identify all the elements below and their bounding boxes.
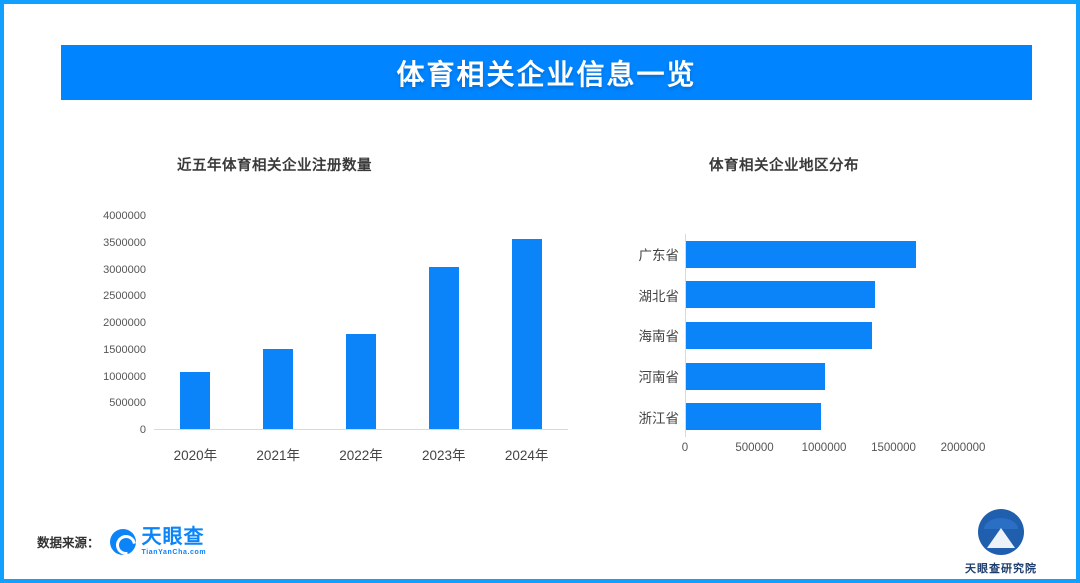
left-chart-bar-slot bbox=[320, 216, 403, 430]
right-chart-bar[interactable] bbox=[685, 241, 916, 268]
data-source: 数据来源： 天眼查 TianYanCha.com bbox=[37, 527, 206, 556]
tianyancha-wordmark: 天眼查 TianYanCha.com bbox=[142, 527, 207, 556]
right-chart-x-tick: 2000000 bbox=[941, 442, 986, 454]
left-chart-y-tick: 1000000 bbox=[103, 371, 146, 383]
tianyancha-logo: 天眼查 TianYanCha.com bbox=[110, 527, 207, 556]
right-chart-bar-row bbox=[685, 363, 963, 390]
right-chart-category-label: 海南省 bbox=[594, 322, 679, 349]
left-chart-y-tick: 3000000 bbox=[103, 264, 146, 276]
institute-logo: 天眼查研究院 bbox=[956, 509, 1046, 576]
page-title: 体育相关企业信息一览 bbox=[396, 53, 696, 93]
data-source-label: 数据来源： bbox=[37, 532, 100, 551]
right-chart-x-tick: 500000 bbox=[735, 442, 773, 454]
left-chart-bars bbox=[154, 216, 568, 430]
left-chart-x-tick: 2022年 bbox=[320, 444, 403, 464]
right-chart-bar-row bbox=[685, 281, 963, 308]
left-chart-plot-area bbox=[154, 216, 568, 430]
right-chart-category-label: 湖北省 bbox=[594, 281, 679, 308]
institute-mark-icon bbox=[978, 509, 1024, 555]
left-chart-bar[interactable] bbox=[512, 239, 542, 430]
right-chart-bar[interactable] bbox=[685, 363, 825, 390]
left-chart-x-tick: 2024年 bbox=[485, 444, 568, 464]
right-chart-bar[interactable] bbox=[685, 281, 875, 308]
right-chart-bar-row bbox=[685, 241, 963, 268]
right-chart-bar-row bbox=[685, 403, 963, 430]
right-chart-bar-row bbox=[685, 322, 963, 349]
left-chart-x-tick: 2020年 bbox=[154, 444, 237, 464]
left-chart-y-tick: 2500000 bbox=[103, 290, 146, 302]
right-chart-category-label: 河南省 bbox=[594, 363, 679, 390]
left-chart-y-axis: 0500000100000015000002000000250000030000… bbox=[76, 216, 146, 430]
left-chart-y-tick: 3500000 bbox=[103, 237, 146, 249]
right-chart-bar[interactable] bbox=[685, 403, 821, 430]
left-chart-y-tick: 0 bbox=[140, 424, 146, 436]
left-chart-bar-slot bbox=[154, 216, 237, 430]
region-distribution-chart: 体育相关企业地区分布 广东省湖北省海南省河南省浙江省 0500000100000… bbox=[594, 144, 1044, 489]
left-chart-bar[interactable] bbox=[429, 267, 459, 430]
tianyancha-eye-icon bbox=[110, 529, 136, 555]
right-chart-title: 体育相关企业地区分布 bbox=[709, 154, 859, 175]
left-chart-y-tick: 1500000 bbox=[103, 344, 146, 356]
right-chart-bar[interactable] bbox=[685, 322, 872, 349]
header-banner: 体育相关企业信息一览 bbox=[61, 45, 1032, 100]
left-chart-y-tick: 500000 bbox=[109, 397, 146, 409]
right-chart-bars bbox=[685, 234, 963, 437]
tianyancha-name-en: TianYanCha.com bbox=[142, 549, 207, 556]
left-chart-x-tick: 2023年 bbox=[402, 444, 485, 464]
poster-page: 体育相关企业信息一览 近五年体育相关企业注册数量 050000010000001… bbox=[0, 0, 1080, 583]
left-chart-y-tick: 4000000 bbox=[103, 210, 146, 222]
registration-count-chart: 近五年体育相关企业注册数量 05000001000000150000020000… bbox=[84, 144, 584, 489]
right-chart-x-axis: 0500000100000015000002000000 bbox=[685, 442, 963, 462]
left-chart-title: 近五年体育相关企业注册数量 bbox=[177, 154, 372, 175]
left-chart-bar[interactable] bbox=[346, 334, 376, 430]
left-chart-bar-slot bbox=[237, 216, 320, 430]
left-chart-axis-line bbox=[154, 429, 568, 430]
institute-name: 天眼查研究院 bbox=[965, 560, 1037, 576]
right-chart-x-tick: 1500000 bbox=[871, 442, 916, 454]
right-chart-plot-area bbox=[685, 234, 963, 437]
institute-house-shape bbox=[987, 528, 1015, 548]
left-chart-bar-slot bbox=[402, 216, 485, 430]
left-chart-x-tick: 2021年 bbox=[237, 444, 320, 464]
right-chart-x-tick: 0 bbox=[682, 442, 688, 454]
left-chart-y-tick: 2000000 bbox=[103, 317, 146, 329]
right-chart-category-label: 广东省 bbox=[594, 241, 679, 268]
right-chart-x-tick: 1000000 bbox=[802, 442, 847, 454]
right-chart-axis-line bbox=[685, 234, 686, 437]
left-chart-bar[interactable] bbox=[180, 372, 210, 430]
right-chart-category-axis: 广东省湖北省海南省河南省浙江省 bbox=[594, 234, 679, 437]
left-chart-bar-slot bbox=[485, 216, 568, 430]
right-chart-category-label: 浙江省 bbox=[594, 403, 679, 430]
left-chart-bar[interactable] bbox=[263, 349, 293, 430]
left-chart-x-axis: 2020年2021年2022年2023年2024年 bbox=[154, 444, 568, 464]
tianyancha-name-cn: 天眼查 bbox=[142, 527, 207, 547]
